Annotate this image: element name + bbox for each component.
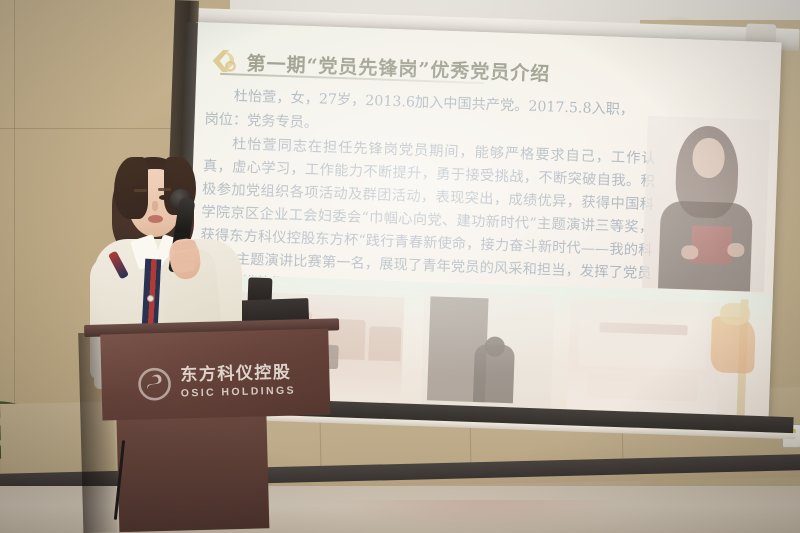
speaker-nose — [152, 201, 158, 211]
podium-base — [116, 414, 269, 532]
portrait-hand — [681, 245, 698, 260]
slide-portrait-photo — [642, 116, 770, 292]
wall-panel-seam — [0, 128, 175, 129]
podium-brand-text: 东方科仪控股 OSIC HOLDINGS — [180, 365, 296, 400]
portrait-certificate — [691, 225, 732, 264]
podium-brand-logo: 东方科仪控股 OSIC HOLDINGS — [137, 355, 328, 410]
floor-reflection — [330, 500, 630, 533]
podium-front-panel: 东方科仪控股 OSIC HOLDINGS — [100, 329, 330, 421]
speaker-eye-right — [159, 195, 169, 200]
photo-flag-raising — [702, 292, 772, 420]
photo-speaker-at-lectern — [421, 290, 555, 410]
cardigan-button — [147, 295, 154, 302]
presentation-photo-scene: 第一期“党员先锋岗”优秀党员介绍 杜怡萱，女，27岁，2013.6加入中国共产党… — [0, 0, 800, 533]
speaker-brow-left — [134, 189, 147, 192]
speaker-eye-left — [135, 196, 145, 201]
party-emblem-icon — [208, 46, 239, 75]
portrait-hand — [727, 243, 744, 258]
podium-brand-cn: 东方科仪控股 — [180, 365, 296, 385]
photo-presentation-screen — [567, 297, 721, 414]
speaker-lips — [148, 215, 163, 223]
podium-brand-en: OSIC HOLDINGS — [181, 386, 296, 400]
podium: 东方科仪控股 OSIC HOLDINGS — [84, 318, 344, 533]
speaker-hair-front-left — [114, 157, 148, 219]
speaker-brow-right — [158, 188, 171, 191]
osic-swirl-logo-icon — [137, 367, 172, 402]
